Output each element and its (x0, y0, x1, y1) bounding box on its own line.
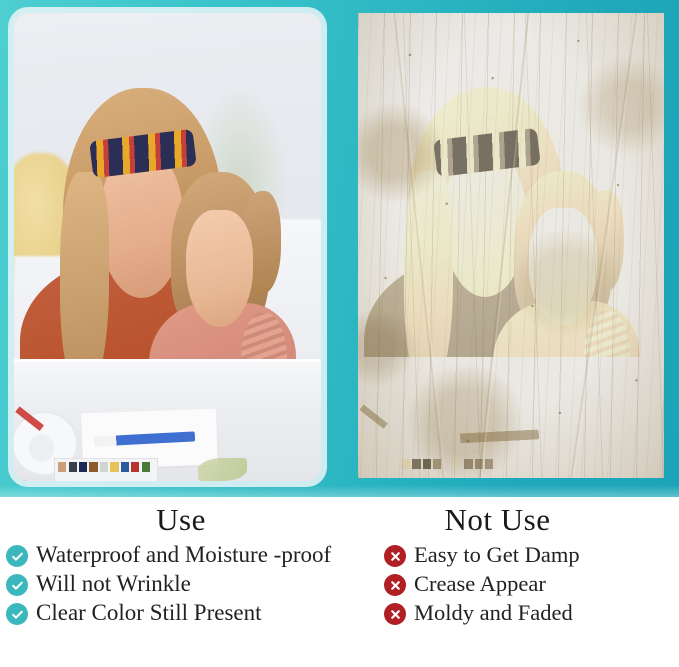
hero-bottom-sheen (0, 485, 679, 497)
cross-circle-icon (384, 603, 406, 625)
comparison-panel: Use Waterproof and Moisture -proof Will … (0, 497, 679, 667)
check-circle-icon (6, 545, 28, 567)
list-item-label: Crease Appear (414, 570, 546, 597)
scene-paintbox (54, 458, 158, 481)
photo-color-icon (14, 13, 321, 481)
photo-scene-good (14, 13, 321, 481)
list-item: Easy to Get Damp (384, 541, 679, 568)
list-item: Moldy and Faded (384, 599, 679, 626)
cross-circle-icon (384, 545, 406, 567)
use-list: Waterproof and Moisture -proof Will not … (0, 541, 340, 626)
table-edge (14, 359, 321, 362)
list-item: Clear Color Still Present (6, 599, 336, 626)
list-item-label: Waterproof and Moisture -proof (36, 541, 331, 568)
not-use-title: Not Use (340, 501, 679, 539)
list-item: Will not Wrinkle (6, 570, 336, 597)
list-item: Waterproof and Moisture -proof (6, 541, 336, 568)
vignette-overlay (358, 13, 664, 478)
good-photo (14, 13, 321, 481)
cross-circle-icon (384, 574, 406, 596)
list-item: Crease Appear (384, 570, 679, 597)
comparison-graphic: Use Waterproof and Moisture -proof Will … (0, 0, 679, 667)
list-item-label: Easy to Get Damp (414, 541, 580, 568)
child-face (186, 210, 254, 327)
column-use: Use Waterproof and Moisture -proof Will … (0, 497, 340, 667)
list-item-label: Moldy and Faded (414, 599, 573, 626)
list-item-label: Clear Color Still Present (36, 599, 262, 626)
check-circle-icon (6, 603, 28, 625)
column-not-use: Not Use Easy to Get Damp Crease Appear (340, 497, 679, 667)
check-circle-icon (6, 574, 28, 596)
use-title: Use (0, 501, 340, 539)
hero-panel (0, 0, 679, 497)
bad-photo (358, 13, 664, 478)
scene-palette-hole (29, 434, 54, 462)
list-item-label: Will not Wrinkle (36, 570, 191, 597)
not-use-list: Easy to Get Damp Crease Appear Moldy and… (340, 541, 679, 626)
photo-damaged-icon (358, 13, 664, 478)
scene-leaf (198, 458, 247, 481)
